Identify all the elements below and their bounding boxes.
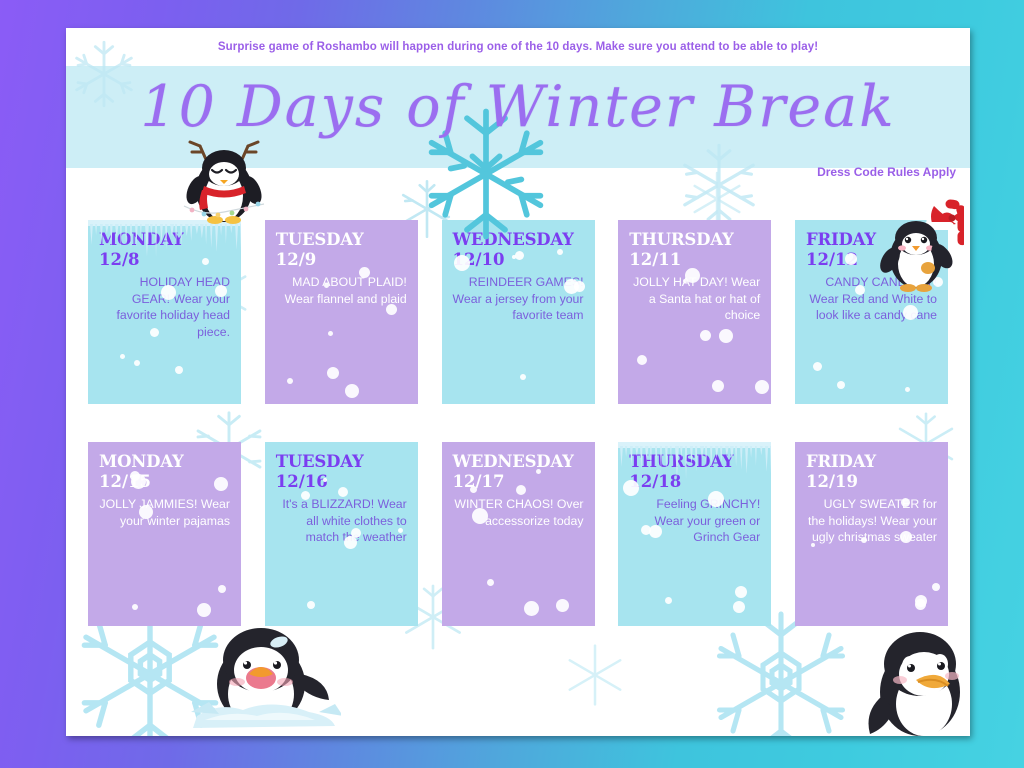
snow-dot <box>218 585 226 593</box>
snow-dot <box>719 329 733 343</box>
day-date: 12/19 <box>806 471 937 492</box>
snow-dot <box>712 380 724 392</box>
day-name: TUESDAY <box>276 452 407 471</box>
day-date: 12/15 <box>99 471 230 492</box>
day-description: Feeling GRINCHY! Wear your green or Grin… <box>629 496 760 546</box>
snow-dot <box>733 601 745 613</box>
snow-dot <box>700 330 711 341</box>
day-card-monday-12-8[interactable]: MONDAY12/8HOLIDAY HEAD GEAR! Wear your f… <box>88 220 241 404</box>
day-date: 12/12 <box>806 249 937 270</box>
day-name: MONDAY <box>99 230 230 249</box>
day-name: FRIDAY <box>806 452 937 471</box>
week-one-row: MONDAY12/8HOLIDAY HEAD GEAR! Wear your f… <box>88 220 948 404</box>
day-name: WEDNESDAY <box>453 452 584 471</box>
day-name: TUESDAY <box>276 230 407 249</box>
snow-dot <box>197 603 211 617</box>
day-card-friday-12-12[interactable]: FRIDAY12/12CANDY CANE DAY! Wear Red and … <box>795 220 948 404</box>
day-card-tuesday-12-16[interactable]: TUESDAY12/16It's a BLIZZARD! Wear all wh… <box>265 442 418 626</box>
snow-dot <box>915 595 927 607</box>
day-date: 12/18 <box>629 471 760 492</box>
day-description: REINDEER GAMES! Wear a jersey from your … <box>453 274 584 324</box>
snow-dot <box>905 387 910 392</box>
day-description: JOLLY HAT DAY! Wear a Santa hat or hat o… <box>629 274 760 324</box>
snow-dot <box>915 599 926 610</box>
day-date: 12/8 <box>99 249 230 270</box>
day-date: 12/16 <box>276 471 407 492</box>
snow-dot <box>134 360 140 366</box>
day-date: 12/10 <box>453 249 584 270</box>
snow-dot <box>287 378 293 384</box>
snow-dot <box>932 583 940 591</box>
snow-dot <box>487 579 494 586</box>
snow-dot <box>813 362 822 371</box>
snow-dot <box>637 355 647 365</box>
day-name: THURSDAY <box>629 230 760 249</box>
snowflake-icon <box>560 640 630 710</box>
day-description: JOLLY JAMMIES! Wear your winter pajamas <box>99 496 230 529</box>
day-date: 12/9 <box>276 249 407 270</box>
day-card-wednesday-12-17[interactable]: WEDNESDAY12/17WINTER CHAOS! Over accesso… <box>442 442 595 626</box>
snow-dot <box>556 599 569 612</box>
roshambo-banner-note: Surprise game of Roshambo will happen du… <box>66 28 970 66</box>
snow-dot <box>328 331 333 336</box>
penguin-on-ice-icon <box>191 616 341 736</box>
winter-break-poster: Surprise game of Roshambo will happen du… <box>66 28 970 736</box>
day-name: WEDNESDAY <box>453 230 584 249</box>
snowflake-icon <box>706 608 856 736</box>
snow-dot <box>735 586 747 598</box>
snow-dot <box>132 604 138 610</box>
poster-canvas: Surprise game of Roshambo will happen du… <box>0 0 1024 768</box>
day-description: UGLY SWEATER for the holidays! Wear your… <box>806 496 937 546</box>
week-two-row: MONDAY12/15JOLLY JAMMIES! Wear your wint… <box>88 442 948 626</box>
day-description: WINTER CHAOS! Over accessorize today <box>453 496 584 529</box>
day-card-friday-12-19[interactable]: FRIDAY12/19UGLY SWEATER for the holidays… <box>795 442 948 626</box>
day-card-thursday-12-18[interactable]: THURSDAY12/18Feeling GRINCHY! Wear your … <box>618 442 771 626</box>
snow-dot <box>327 367 339 379</box>
day-description: It's a BLIZZARD! Wear all white clothes … <box>276 496 407 546</box>
penguin-peeking-icon <box>854 618 970 736</box>
day-name: THURSDAY <box>629 452 760 471</box>
day-card-wednesday-12-10[interactable]: WEDNESDAY12/10REINDEER GAMES! Wear a jer… <box>442 220 595 404</box>
snow-dot <box>307 601 315 609</box>
snow-dot <box>345 384 359 398</box>
day-card-thursday-12-11[interactable]: THURSDAY12/11JOLLY HAT DAY! Wear a Santa… <box>618 220 771 404</box>
snow-dot <box>120 354 125 359</box>
day-description: HOLIDAY HEAD GEAR! Wear your favorite ho… <box>99 274 230 340</box>
page-title: 10 Days of Winter Break <box>66 74 970 140</box>
dress-code-note: Dress Code Rules Apply <box>817 165 956 179</box>
day-name: FRIDAY <box>806 230 937 249</box>
day-description: MAD ABOUT PLAID! Wear flannel and plaid <box>276 274 407 307</box>
snow-dot <box>175 366 183 374</box>
day-name: MONDAY <box>99 452 230 471</box>
day-description: CANDY CANE DAY! Wear Red and White to lo… <box>806 274 937 324</box>
day-card-tuesday-12-9[interactable]: TUESDAY12/9MAD ABOUT PLAID! Wear flannel… <box>265 220 418 404</box>
day-date: 12/11 <box>629 249 760 270</box>
snow-dot <box>520 374 526 380</box>
snow-dot <box>665 597 672 604</box>
snow-dot <box>755 380 769 394</box>
snow-dot <box>837 381 845 389</box>
snow-dot <box>524 601 539 616</box>
day-date: 12/17 <box>453 471 584 492</box>
day-card-monday-12-15[interactable]: MONDAY12/15JOLLY JAMMIES! Wear your wint… <box>88 442 241 626</box>
